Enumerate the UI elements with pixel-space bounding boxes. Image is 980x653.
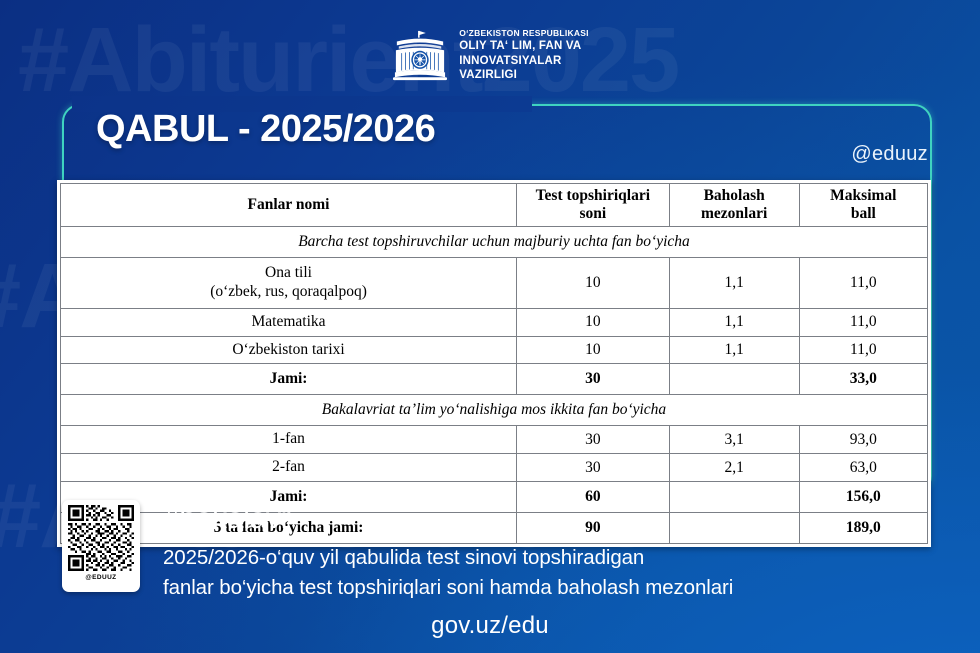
row-max-score: 11,0 bbox=[799, 257, 927, 308]
row-max-score: 11,0 bbox=[799, 308, 927, 336]
column-header-criteria: Baholash mezonlari bbox=[669, 184, 799, 227]
grand-total-criteria bbox=[669, 513, 799, 544]
row-max-score: 11,0 bbox=[799, 336, 927, 364]
subtotal-criteria bbox=[669, 364, 799, 395]
table-header-row: Fanlar nomi Test topshiriqlari soni Baho… bbox=[61, 184, 928, 227]
footer-description-line-1: 2025/2026-o‘quv yil qabulida test sinovi… bbox=[163, 546, 644, 569]
row-max-score: 93,0 bbox=[799, 426, 927, 454]
footer-website[interactable]: gov.uz/edu bbox=[0, 612, 980, 640]
row-criteria: 1,1 bbox=[669, 257, 799, 308]
row-criteria: 1,1 bbox=[669, 336, 799, 364]
table-row: O‘zbekiston tarixi 10 1,1 11,0 bbox=[61, 336, 928, 364]
subtotal-test-count: 30 bbox=[517, 364, 670, 395]
table-subtotal-row: Jami: 30 33,0 bbox=[61, 364, 928, 395]
row-subject: 2-fan bbox=[61, 454, 517, 482]
row-subject: O‘zbekiston tarixi bbox=[61, 336, 517, 364]
ministry-line-1: O‘ZBEKISTON RESPUBLIKASI bbox=[459, 28, 589, 39]
row-criteria: 1,1 bbox=[669, 308, 799, 336]
row-test-count: 10 bbox=[517, 336, 670, 364]
table-row: Matematika 10 1,1 11,0 bbox=[61, 308, 928, 336]
social-handle: @eduuz bbox=[851, 143, 928, 166]
column-header-max-score: Maksimal ball bbox=[799, 184, 927, 227]
row-criteria: 3,1 bbox=[669, 426, 799, 454]
row-test-count: 30 bbox=[517, 454, 670, 482]
subtotal-max-score: 33,0 bbox=[799, 364, 927, 395]
table-row: 2-fan 30 2,1 63,0 bbox=[61, 454, 928, 482]
subtotal-label: Jami: bbox=[61, 364, 517, 395]
subtotal-criteria bbox=[669, 482, 799, 513]
section-heading-row: Bakalavriat ta’lim yo‘nalishiga mos ikki… bbox=[61, 395, 928, 426]
qr-code[interactable]: @EDUUZ bbox=[62, 500, 140, 592]
row-criteria: 2,1 bbox=[669, 454, 799, 482]
section-heading: Barcha test topshiruvchilar uchun majbur… bbox=[61, 226, 928, 257]
qr-code-icon bbox=[68, 505, 134, 571]
ministry-line-2: OLIY TA‘ LIM, FAN VA bbox=[459, 39, 589, 54]
section-heading: Bakalavriat ta’lim yo‘nalishiga mos ikki… bbox=[61, 395, 928, 426]
qr-code-label: @EDUUZ bbox=[85, 574, 116, 581]
section-heading-row: Barcha test topshiruvchilar uchun majbur… bbox=[61, 226, 928, 257]
ministry-logo-block: O‘ZBEKISTON RESPUBLIKASI OLIY TA‘ LIM, F… bbox=[0, 28, 980, 83]
ministry-line-4: VAZIRLIGI bbox=[459, 68, 589, 83]
footer-description-line-2: fanlar bo‘yicha test topshiriqlari soni … bbox=[163, 576, 733, 599]
column-header-test-count: Test topshiriqlari soni bbox=[517, 184, 670, 227]
grand-total-max-score: 189,0 bbox=[799, 513, 927, 544]
row-subject: Ona tili (o‘zbek, rus, qoraqalpoq) bbox=[61, 257, 517, 308]
subtotal-max-score: 156,0 bbox=[799, 482, 927, 513]
row-test-count: 30 bbox=[517, 426, 670, 454]
ministry-line-3: INNOVATSIYALAR bbox=[459, 54, 589, 69]
footer-hashtag: #bakalavr bbox=[163, 502, 290, 536]
row-subject: Matematika bbox=[61, 308, 517, 336]
uzbekistan-ministry-emblem-icon bbox=[391, 29, 449, 83]
row-max-score: 63,0 bbox=[799, 454, 927, 482]
row-test-count: 10 bbox=[517, 257, 670, 308]
table-row: Ona tili (o‘zbek, rus, qoraqalpoq) 10 1,… bbox=[61, 257, 928, 308]
footer-description: 2025/2026-o‘quv yil qabulida test sinovi… bbox=[163, 543, 953, 602]
subtotal-test-count: 60 bbox=[517, 482, 670, 513]
grand-total-test-count: 90 bbox=[517, 513, 670, 544]
ministry-name: O‘ZBEKISTON RESPUBLIKASI OLIY TA‘ LIM, F… bbox=[459, 28, 589, 83]
row-subject: 1-fan bbox=[61, 426, 517, 454]
admission-table-container: Fanlar nomi Test topshiriqlari soni Baho… bbox=[57, 180, 931, 547]
page-title: QABUL - 2025/2026 bbox=[96, 108, 435, 151]
poster-canvas: #Abiturient2025 #Abiturient2025 #Abituri… bbox=[0, 0, 980, 653]
admission-table: Fanlar nomi Test topshiriqlari soni Baho… bbox=[60, 183, 928, 544]
column-header-subjects: Fanlar nomi bbox=[61, 184, 517, 227]
table-row: 1-fan 30 3,1 93,0 bbox=[61, 426, 928, 454]
row-test-count: 10 bbox=[517, 308, 670, 336]
